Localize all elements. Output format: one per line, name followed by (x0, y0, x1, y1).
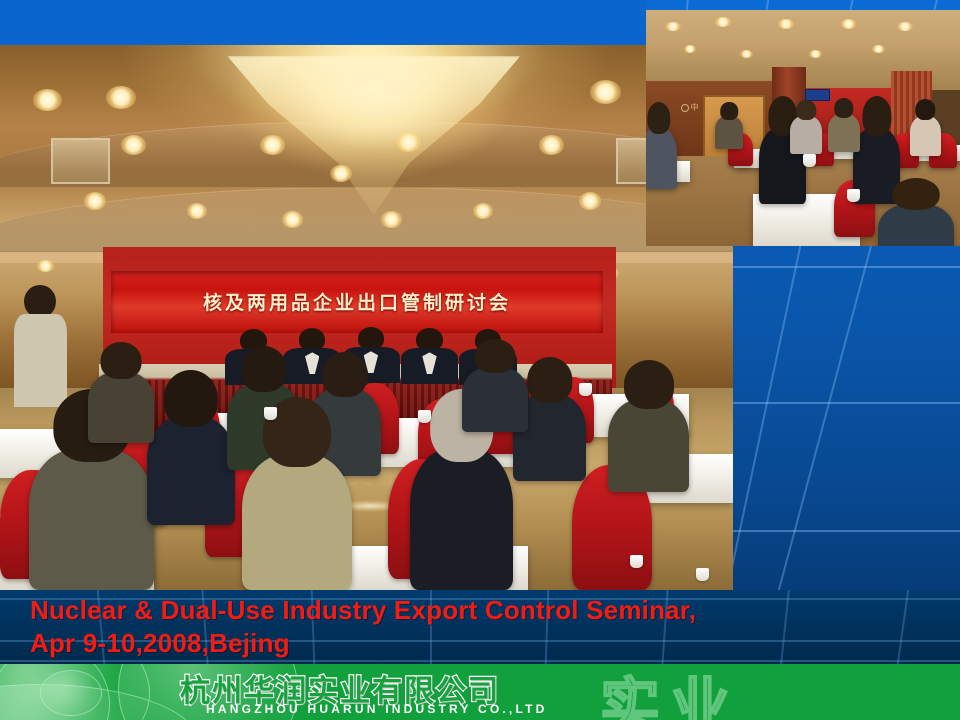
top-blue-band (0, 0, 646, 45)
panelist (399, 328, 459, 383)
inset-attendee (715, 116, 743, 149)
company-name-en: HANGZHOU HUARUN INDUSTRY CO.,LTD (206, 702, 676, 716)
attendee (410, 448, 513, 590)
inset-attendee (910, 116, 941, 156)
inset-attendee (878, 204, 953, 246)
attendee (29, 448, 154, 590)
photographer (7, 285, 73, 405)
inset-attendee (646, 128, 677, 189)
company-logo: 杭州华润实业有限公司 HANGZHOU HUARUN INDUSTRY CO.,… (180, 666, 650, 720)
caption-line-2: Apr 9-10,2008,Bejing (30, 627, 910, 660)
seminar-banner-text: 核及两用品企业出口管制研讨会 (203, 288, 511, 315)
wall-logo-ring (681, 104, 689, 112)
main-conference-photo: 核及两用品企业出口管制研讨会 华润实业 (0, 45, 733, 590)
wall-logo-text: 中 (691, 102, 699, 113)
caption: Nuclear & Dual-Use Industry Export Contr… (30, 594, 910, 660)
company-footer: 实业 杭州华润实业有限公司 HANGZHOU HUARUN INDUSTRY C… (0, 664, 960, 720)
presentation-slide: 核及两用品企业出口管制研讨会 华润实业 (0, 0, 960, 720)
attendee (88, 372, 154, 443)
attendee (147, 416, 235, 525)
attendee (242, 454, 352, 590)
attendee (462, 367, 528, 432)
seminar-banner: 核及两用品企业出口管制研讨会 (111, 271, 602, 333)
caption-band: Nuclear & Dual-Use Industry Export Contr… (0, 590, 960, 664)
attendee (608, 399, 689, 492)
inset-screen (805, 89, 830, 101)
inset-attendee (790, 116, 821, 154)
inset-delegates-photo: 中 (646, 10, 960, 246)
inset-attendee (828, 114, 859, 152)
caption-line-1: Nuclear & Dual-Use Industry Export Contr… (30, 594, 910, 627)
